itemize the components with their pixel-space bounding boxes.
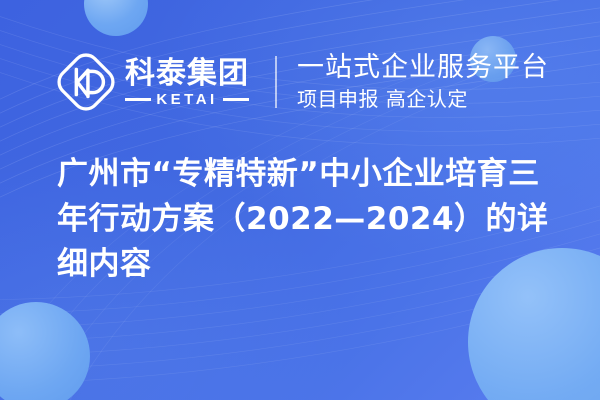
banner-header: 科泰集团 KETAI 一站式企业服务平台 项目申报 高企认定 (0, 44, 600, 120)
tagline-sub: 项目申报 高企认定 (297, 86, 549, 112)
brand-name-en-row: KETAI (125, 92, 249, 108)
brand-rule-left (125, 98, 151, 101)
brand-lockup[interactable]: 科泰集团 KETAI (57, 53, 249, 111)
vertical-divider (275, 56, 277, 108)
brand-text: 科泰集团 KETAI (125, 57, 249, 108)
page-title: 广州市“专精特新”中小企业培育三年行动方案（2022—2024）的详细内容 (57, 152, 557, 287)
decor-circle-bottom-left (0, 302, 90, 400)
brand-name-cn: 科泰集团 (125, 57, 249, 91)
brand-rule-right (223, 98, 249, 101)
ketai-kd-monogram-logo-icon (57, 53, 115, 111)
brand-name-en: KETAI (156, 92, 217, 108)
promo-banner: 科泰集团 KETAI 一站式企业服务平台 项目申报 高企认定 广州市“专精特新”… (0, 0, 600, 400)
tagline-main: 一站式企业服务平台 (297, 52, 549, 84)
tagline-block: 一站式企业服务平台 项目申报 高企认定 (297, 52, 549, 112)
decor-circle-top (84, 0, 148, 36)
